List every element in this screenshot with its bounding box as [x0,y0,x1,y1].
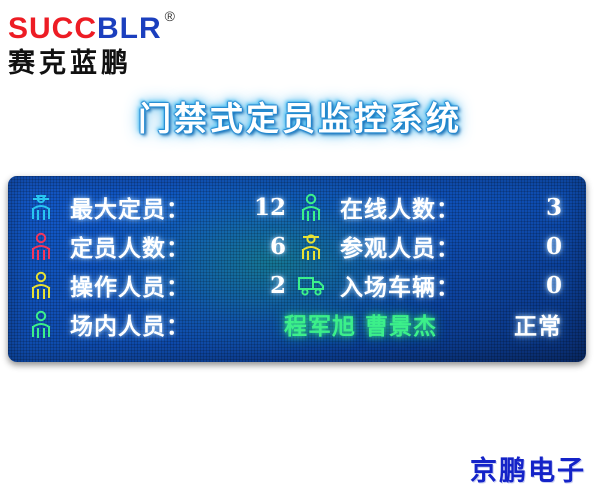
led-row-onsite-names: 程军旭 曹景杰 正常 [26,305,568,343]
led-row-vehicles: 入场车辆： 0 [296,266,568,304]
led-value-online-count: 3 [530,194,568,221]
brand-chinese-name: 赛克蓝鹏 [8,47,228,81]
page-title: 门禁式定员监控系统 [0,92,600,140]
brand-wordmark: SUCCBLR® [8,6,228,45]
footer-company-logo: 京鹏电子 [470,449,586,488]
status-badge: 正常 [514,307,568,341]
brand-wordmark-succ: SUCC [8,12,97,45]
led-label-max-capacity: 最大定员： [56,190,254,224]
brand-wordmark-blr: BLR [97,12,162,45]
led-value-visitors: 0 [530,233,568,260]
led-row-quota-count: 定员人数： 6 [26,227,292,265]
led-label-online-count: 在线人数： [326,190,530,224]
registered-trademark-icon: ® [165,0,176,32]
led-label-visitors: 参观人员： [326,229,530,263]
led-row-operators: 操作人员： 2 [26,266,292,304]
person-visitor-icon [296,231,326,261]
led-label-quota-count: 定员人数： [56,229,254,263]
person-helmet-icon [26,192,56,222]
led-content-grid: 最大定员： 12 定员人数： 6 [8,176,586,362]
person-red-icon [26,231,56,261]
truck-icon [296,270,326,300]
led-row-max-capacity: 最大定员： 12 [26,188,292,226]
led-value-vehicles: 0 [530,272,568,299]
led-row-online-count: 在线人数： 3 [296,188,568,226]
led-value-quota-count: 6 [254,233,292,260]
onsite-personnel-names: 程军旭 曹景杰 [256,307,437,341]
led-label-operators: 操作人员： [56,268,254,302]
led-label-vehicles: 入场车辆： [326,268,530,302]
led-value-max-capacity: 12 [254,194,292,221]
led-display-panel: 最大定员： 12 定员人数： 6 [8,176,586,362]
person-online-icon [296,192,326,222]
led-value-operators: 2 [254,272,292,299]
led-row-visitors: 参观人员： 0 [296,227,568,265]
brand-logo: SUCCBLR® 赛克蓝鹏 [8,6,228,78]
person-yellow-icon [26,270,56,300]
